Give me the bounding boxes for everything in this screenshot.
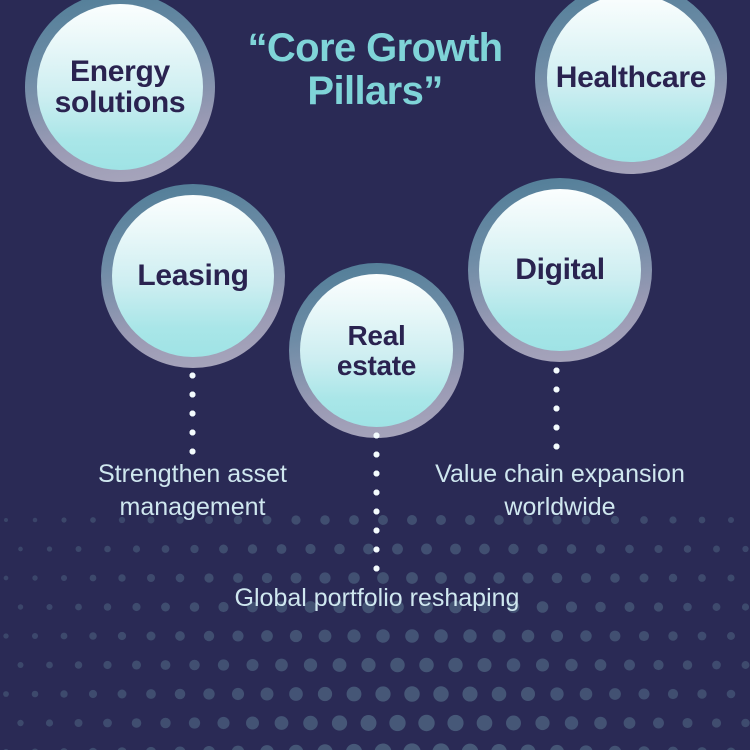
halftone-dot (450, 544, 461, 555)
halftone-dot (462, 686, 477, 701)
halftone-dot (668, 747, 679, 750)
halftone-dot (477, 715, 493, 731)
halftone-dot (75, 719, 83, 727)
halftone-dot (161, 603, 170, 612)
halftone-dot (175, 689, 186, 700)
halftone-dot (522, 630, 535, 643)
halftone-dot (147, 574, 155, 582)
halftone-dot (18, 604, 23, 609)
halftone-dot (289, 687, 303, 701)
halftone-dot (76, 546, 82, 552)
halftone-dot (727, 632, 735, 640)
halftone-dot (434, 629, 448, 643)
halftone-dot (625, 602, 635, 612)
halftone-dot (290, 630, 302, 642)
halftone-dot (332, 715, 347, 730)
halftone-dot (4, 576, 9, 581)
halftone-dot (217, 717, 229, 729)
halftone-dot (334, 544, 345, 555)
halftone-dot (118, 574, 125, 581)
halftone-dot (18, 547, 23, 552)
halftone-dot (390, 658, 404, 672)
halftone-dot (118, 632, 126, 640)
infographic-canvas: Energy solutionsHealthcareLeasingDigital… (0, 0, 750, 750)
halftone-dot (462, 744, 479, 750)
halftone-dot (653, 718, 664, 729)
halftone-dot (375, 686, 390, 701)
halftone-dot (639, 631, 649, 641)
bubble-healthcare[interactable]: Healthcare (535, 0, 727, 174)
halftone-dot (492, 687, 507, 702)
halftone-dot (203, 746, 215, 750)
halftone-dot (713, 603, 721, 611)
halftone-dot (361, 715, 377, 731)
halftone-dot (190, 545, 198, 553)
halftone-dot (161, 660, 171, 670)
halftone-dot (550, 687, 563, 700)
halftone-dot (89, 690, 97, 698)
halftone-dot (32, 633, 38, 639)
halftone-dot (551, 630, 563, 642)
halftone-dot (421, 544, 432, 555)
halftone-dot (491, 744, 507, 750)
halftone-dot (317, 744, 332, 750)
halftone-dot (668, 631, 677, 640)
halftone-dot (712, 718, 721, 727)
halftone-dot (712, 661, 721, 670)
halftone-dot (697, 689, 706, 698)
halftone-dot (46, 604, 52, 610)
caption-real-estate: Global portfolio reshaping (182, 582, 572, 615)
halftone-dot (741, 719, 749, 727)
connector-real-estate (373, 432, 380, 577)
halftone-dot (248, 544, 257, 553)
halftone-dot (261, 630, 273, 642)
halftone-dot (550, 745, 564, 750)
halftone-dot (389, 715, 405, 731)
halftone-dot (624, 660, 635, 671)
halftone-dot (204, 631, 214, 641)
halftone-dot (418, 715, 434, 731)
halftone-dot (175, 631, 185, 641)
halftone-dot (304, 658, 317, 671)
halftone-dot (742, 603, 749, 610)
halftone-dot (507, 658, 521, 672)
halftone-dot (275, 659, 288, 672)
caption-digital: Value chain expansion worldwide (405, 458, 715, 524)
halftone-dot (3, 691, 9, 697)
bubble-leasing[interactable]: Leasing (101, 184, 285, 368)
halftone-dot (506, 716, 521, 731)
halftone-dot (479, 544, 490, 555)
halftone-dot (579, 745, 592, 750)
halftone-dot (684, 545, 692, 553)
halftone-dot (61, 633, 68, 640)
halftone-dot (277, 544, 287, 554)
halftone-dot (625, 545, 634, 554)
halftone-dot (103, 661, 111, 669)
halftone-dot (432, 743, 449, 750)
halftone-dot (640, 574, 649, 583)
halftone-dot (727, 690, 736, 699)
halftone-dot (147, 632, 156, 641)
halftone-dot (713, 546, 720, 553)
halftone-dot (565, 659, 577, 671)
halftone-dot (536, 658, 549, 671)
halftone-dot (75, 604, 82, 611)
halftone-dot (535, 716, 549, 730)
halftone-dot (260, 745, 274, 750)
halftone-dot (246, 717, 259, 730)
halftone-dot (448, 658, 462, 672)
halftone-dot (595, 602, 606, 613)
bubble-label-real-estate: Real estate (337, 321, 416, 379)
connector-digital (553, 367, 560, 459)
halftone-dot (61, 575, 67, 581)
halftone-dot (47, 546, 52, 551)
halftone-dot (638, 746, 650, 750)
halftone-dot (261, 688, 274, 701)
halftone-dot (162, 545, 170, 553)
halftone-dot (361, 658, 375, 672)
bubble-digital[interactable]: Digital (468, 178, 652, 362)
halftone-dot (60, 690, 67, 697)
halftone-dot (567, 544, 577, 554)
halftone-dot (232, 688, 244, 700)
halftone-dot (75, 661, 83, 669)
halftone-dot (189, 717, 200, 728)
halftone-dot (289, 745, 304, 750)
bubble-label-energy-solutions: Energy solutions (55, 56, 186, 118)
halftone-dot (46, 662, 53, 669)
halftone-dot (405, 629, 419, 643)
halftone-dot (698, 632, 707, 641)
halftone-dot (232, 746, 245, 750)
bubble-label-leasing: Leasing (137, 260, 248, 291)
halftone-dot (303, 716, 318, 731)
halftone-dot (32, 575, 37, 580)
halftone-dot (118, 690, 127, 699)
halftone-dot (683, 660, 692, 669)
halftone-dot (189, 660, 200, 671)
halftone-dot (104, 603, 112, 611)
halftone-dot (580, 630, 591, 641)
halftone-dot (682, 718, 692, 728)
halftone-dot (347, 629, 360, 642)
halftone-dot (349, 515, 359, 525)
halftone-dot (376, 629, 389, 642)
halftone-dot (653, 660, 663, 670)
halftone-dot (333, 658, 347, 672)
halftone-dot (305, 544, 315, 554)
halftone-dot (654, 602, 663, 611)
halftone-dot (103, 719, 112, 728)
bubble-label-healthcare: Healthcare (556, 62, 706, 93)
halftone-dot (90, 575, 97, 582)
halftone-dot (742, 546, 748, 552)
halftone-dot (375, 744, 392, 750)
halftone-dot (318, 687, 332, 701)
halftone-dot (319, 630, 332, 643)
halftone-dot (447, 715, 463, 731)
halftone-dot (4, 518, 8, 522)
caption-leasing: Strengthen asset management (60, 458, 325, 524)
halftone-dot (33, 518, 38, 523)
halftone-dot (17, 720, 23, 726)
halftone-dot (537, 544, 547, 554)
halftone-dot (639, 689, 650, 700)
halftone-dot (596, 544, 605, 553)
halftone-dot (18, 662, 24, 668)
halftone-dot (132, 718, 142, 728)
halftone-dot (32, 691, 39, 698)
halftone-dot (203, 688, 214, 699)
halftone-dot (433, 686, 448, 701)
halftone-dot (520, 744, 535, 750)
halftone-dot (3, 633, 8, 638)
halftone-dot (477, 658, 491, 672)
halftone-dot (624, 717, 636, 729)
halftone-dot (219, 545, 228, 554)
halftone-dot (728, 517, 734, 523)
halftone-dot (404, 686, 419, 701)
halftone-dot (146, 689, 156, 699)
halftone-dot (133, 545, 140, 552)
halftone-dot (565, 716, 578, 729)
halftone-dot (275, 716, 289, 730)
halftone-dot (392, 544, 403, 555)
halftone-dot (668, 689, 678, 699)
halftone-dot (132, 660, 141, 669)
bubble-real-estate[interactable]: Real estate (289, 263, 464, 438)
halftone-dot (132, 603, 140, 611)
halftone-dot (669, 574, 677, 582)
halftone-dot (160, 718, 170, 728)
halftone-dot (463, 629, 476, 642)
halftone-dot (46, 719, 53, 726)
halftone-dot (594, 717, 607, 730)
halftone-dot (609, 688, 621, 700)
halftone-dot (742, 661, 750, 669)
halftone-dot (508, 544, 518, 554)
halftone-dot (347, 687, 362, 702)
halftone-dot (89, 632, 97, 640)
connector-leasing (189, 372, 196, 464)
halftone-dot (104, 546, 111, 553)
halftone-dot (174, 746, 185, 750)
halftone-dot (654, 545, 662, 553)
halftone-dot (595, 659, 607, 671)
halftone-dot (346, 744, 362, 750)
halftone-dot (610, 573, 620, 583)
halftone-dot (403, 743, 420, 750)
halftone-dot (521, 687, 535, 701)
halftone-dot (698, 574, 706, 582)
halftone-dot (419, 658, 434, 673)
halftone-dot (683, 603, 692, 612)
halftone-dot (247, 659, 259, 671)
halftone-dot (492, 629, 505, 642)
halftone-dot (609, 746, 621, 750)
bubble-label-digital: Digital (515, 254, 605, 285)
bubble-energy-solutions[interactable]: Energy solutions (25, 0, 215, 182)
halftone-dot (610, 631, 621, 642)
halftone-dot (232, 630, 243, 641)
halftone-dot (727, 574, 734, 581)
halftone-dot (581, 573, 591, 583)
halftone-dot (218, 659, 229, 670)
page-title: “Core Growth Pillars” (215, 27, 535, 113)
halftone-dot (580, 688, 593, 701)
